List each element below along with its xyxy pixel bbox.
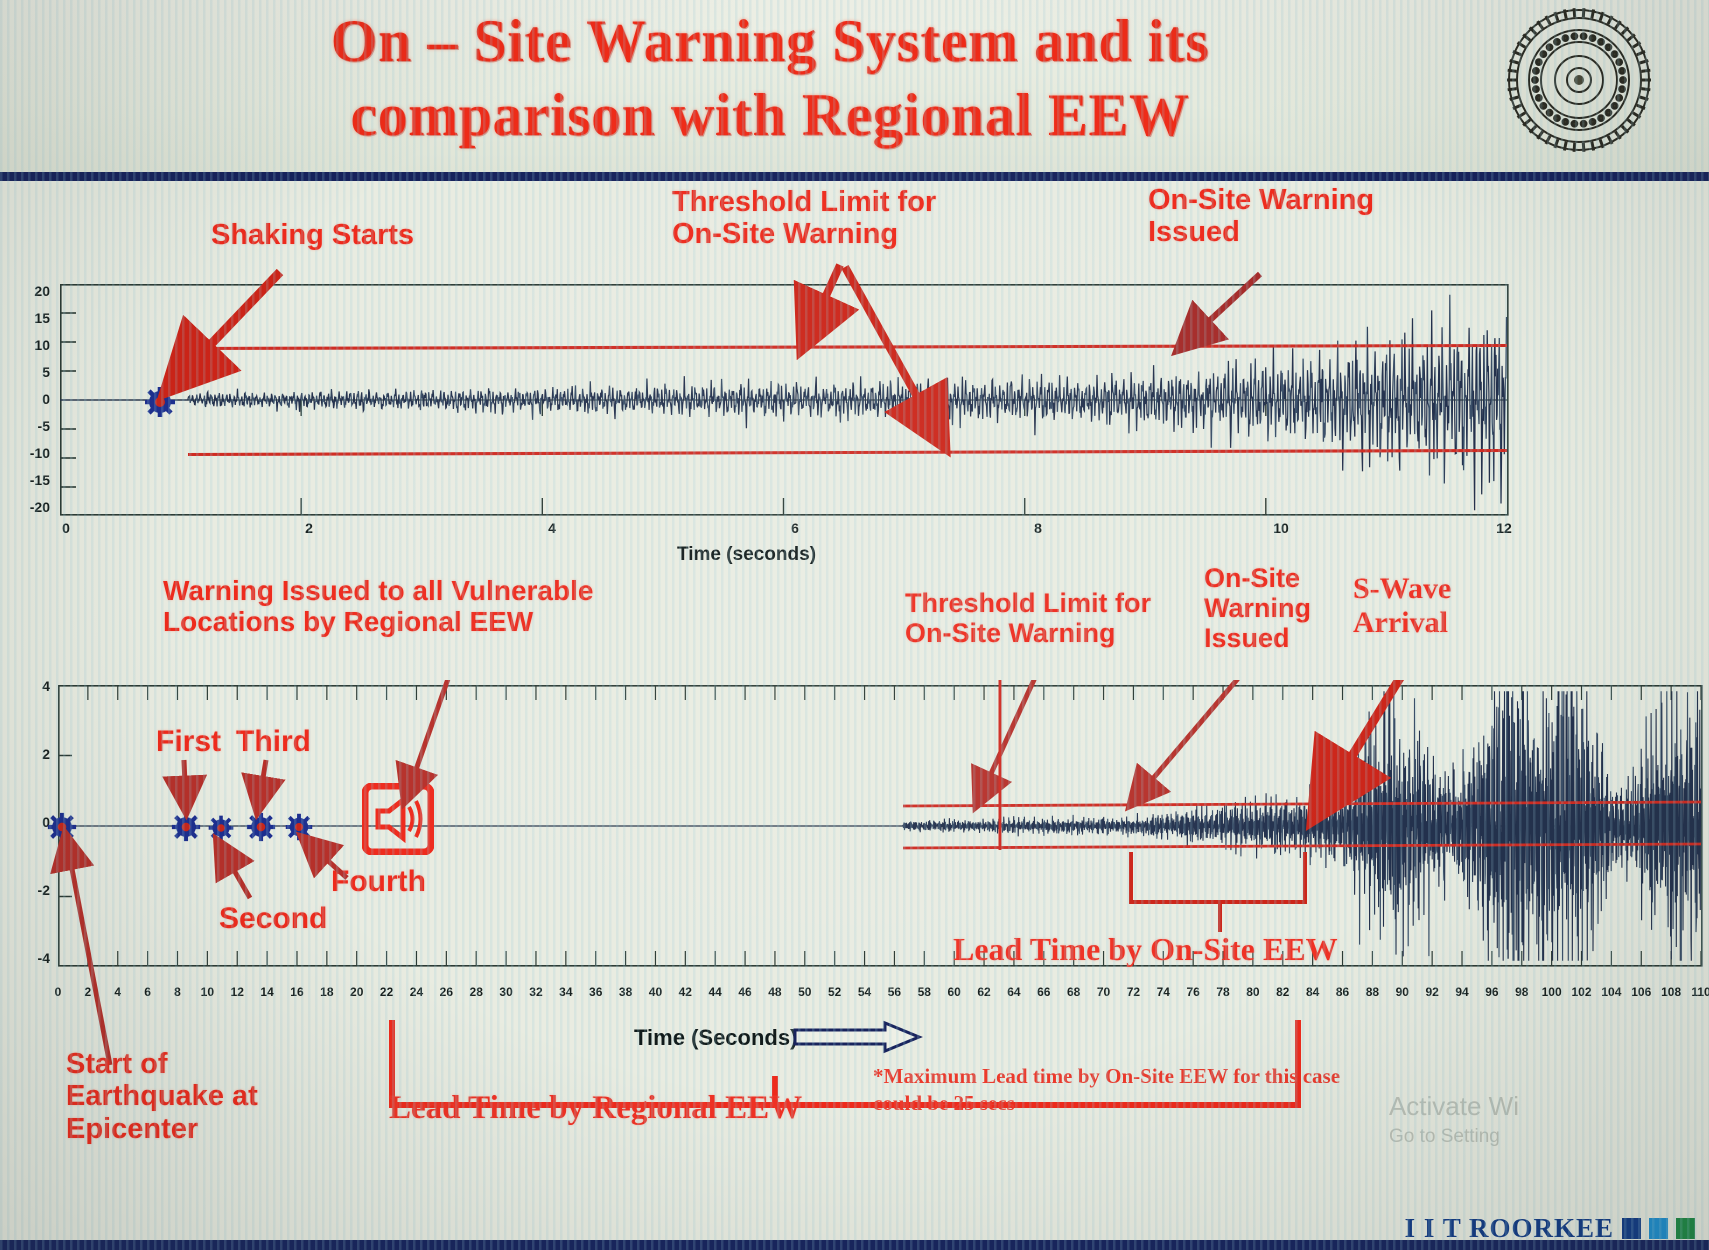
bottom-xtick-80: 80	[1239, 985, 1267, 999]
annotation-bottom-threshold-limit-line1: Threshold Limit for	[905, 588, 1151, 618]
label-start-of-earthquake-line1: Start of	[66, 1048, 258, 1080]
bottom-xtick-36: 36	[582, 985, 610, 999]
bottom-xtick-46: 46	[731, 985, 759, 999]
top-chart-xaxis-title: Time (seconds)	[677, 544, 816, 566]
brand-square-darkblue	[1622, 1218, 1641, 1239]
annotation-regional-warning-line2: Locations by Regional EEW	[163, 606, 593, 637]
annotation-s-wave-arrival-line1: S-Wave	[1353, 572, 1451, 606]
bottom-xtick-102: 102	[1568, 985, 1596, 999]
top-ytick-neg10: -10	[10, 445, 50, 461]
bottom-chart: 4 2 0 -2 -4	[0, 680, 1709, 1110]
bottom-chart-xaxis-title: Time (Seconds)	[634, 1025, 797, 1051]
iit-roorkee-emblem-icon	[1504, 5, 1654, 155]
bottom-xtick-72: 72	[1119, 985, 1147, 999]
bottom-xtick-88: 88	[1358, 985, 1386, 999]
bottom-xtick-30: 30	[492, 985, 520, 999]
bottom-xtick-84: 84	[1299, 985, 1327, 999]
watermark-line1: Activate Wi	[1389, 1089, 1519, 1124]
page-title-line1: On – Site Warning System and its	[150, 4, 1390, 78]
top-xtick-8: 8	[1023, 520, 1053, 536]
top-ytick-neg15: -15	[10, 472, 50, 488]
annotation-onsite-warning-issued: On-Site Warning Issued	[1148, 184, 1374, 249]
bottom-xtick-98: 98	[1508, 985, 1536, 999]
bottom-xtick-60: 60	[940, 985, 968, 999]
bottom-xtick-56: 56	[880, 985, 908, 999]
bottom-chart-xticks: 0246810121416182022242628303234363840424…	[0, 985, 1709, 1015]
annotation-bottom-onsite-warning: On-Site Warning Issued	[1204, 563, 1311, 654]
bottom-xtick-92: 92	[1418, 985, 1446, 999]
bottom-xtick-6: 6	[134, 985, 162, 999]
annotation-s-wave-arrival-line2: Arrival	[1353, 606, 1451, 640]
bottom-xtick-110: 110	[1687, 985, 1709, 999]
annotation-s-wave-arrival: S-Wave Arrival	[1353, 572, 1451, 639]
annotation-threshold-limit-line2: On-Site Warning	[672, 218, 936, 250]
bottom-xtick-82: 82	[1269, 985, 1297, 999]
brand-square-blue	[1649, 1218, 1668, 1239]
bottom-xtick-24: 24	[402, 985, 430, 999]
bottom-xtick-18: 18	[313, 985, 341, 999]
bottom-xtick-76: 76	[1179, 985, 1207, 999]
bottom-xtick-32: 32	[522, 985, 550, 999]
marker-first	[170, 811, 200, 841]
bottom-xtick-38: 38	[612, 985, 640, 999]
page-title-line2: comparison with Regional EEW	[150, 78, 1390, 152]
bottom-xtick-108: 108	[1657, 985, 1685, 999]
bottom-xtick-104: 104	[1597, 985, 1625, 999]
top-ytick-20: 20	[10, 283, 50, 299]
bottom-ytick-4: 4	[10, 678, 50, 694]
top-ytick-5: 5	[10, 364, 50, 380]
bottom-xtick-10: 10	[193, 985, 221, 999]
top-chart-plot	[60, 284, 1509, 516]
annotation-threshold-limit-line1: Threshold Limit for	[672, 186, 936, 218]
top-ytick-10: 10	[10, 337, 50, 353]
bottom-xtick-62: 62	[970, 985, 998, 999]
bottom-xtick-2: 2	[74, 985, 102, 999]
top-xtick-10: 10	[1266, 520, 1296, 536]
annotation-regional-warning: Warning Issued to all Vulnerable Locatio…	[163, 575, 593, 638]
marker-start-of-earthquake	[46, 811, 76, 841]
regional-eew-alert-icon	[362, 783, 434, 855]
bottom-xtick-42: 42	[671, 985, 699, 999]
label-lead-time-onsite: Lead Time by On-Site EEW	[953, 932, 1338, 968]
top-xtick-12: 12	[1489, 520, 1519, 536]
bottom-xtick-28: 28	[462, 985, 490, 999]
bottom-xtick-22: 22	[373, 985, 401, 999]
bottom-xtick-34: 34	[552, 985, 580, 999]
watermark-line2: Go to Setting	[1389, 1124, 1519, 1150]
bottom-xtick-4: 4	[104, 985, 132, 999]
windows-activation-watermark: Activate Wi Go to Setting	[1389, 1089, 1519, 1150]
bottom-xtick-100: 100	[1538, 985, 1566, 999]
bottom-xtick-20: 20	[343, 985, 371, 999]
label-second: Second	[219, 902, 327, 936]
bottom-xtick-64: 64	[1000, 985, 1028, 999]
annotation-bottom-onsite-warning-line1: On-Site	[1204, 563, 1311, 593]
marker-third	[245, 811, 275, 841]
bottom-xtick-70: 70	[1090, 985, 1118, 999]
bottom-xtick-58: 58	[910, 985, 938, 999]
bottom-xtick-26: 26	[432, 985, 460, 999]
bottom-ytick-0: 0	[10, 814, 50, 830]
top-xtick-6: 6	[780, 520, 810, 536]
annotation-bottom-threshold-limit: Threshold Limit for On-Site Warning	[905, 588, 1151, 648]
top-chart: Shaking Starts Threshold Limit for On-Si…	[0, 172, 1709, 582]
bottom-xtick-106: 106	[1627, 985, 1655, 999]
label-lead-time-regional: Lead Time by Regional EEW	[389, 1090, 802, 1127]
bottom-xtick-0: 0	[44, 985, 72, 999]
annotation-onsite-warning-issued-line1: On-Site Warning	[1148, 184, 1374, 216]
top-ytick-15: 15	[10, 310, 50, 326]
bottom-xtick-86: 86	[1329, 985, 1357, 999]
top-ytick-neg20: -20	[10, 499, 50, 515]
time-direction-arrow-icon	[793, 1020, 923, 1054]
top-threshold-lower	[188, 451, 1507, 455]
slide-canvas: On – Site Warning System and its compari…	[0, 0, 1709, 1250]
bottom-xtick-16: 16	[283, 985, 311, 999]
marker-shaking-starts	[143, 385, 173, 415]
bottom-xtick-94: 94	[1448, 985, 1476, 999]
bottom-xtick-8: 8	[163, 985, 191, 999]
bottom-xtick-50: 50	[791, 985, 819, 999]
bottom-xtick-68: 68	[1060, 985, 1088, 999]
brand-square-green	[1676, 1218, 1695, 1239]
label-first: First	[156, 725, 221, 759]
annotation-bottom-threshold-limit-line2: On-Site Warning	[905, 618, 1151, 648]
bottom-xtick-44: 44	[701, 985, 729, 999]
marker-second	[207, 814, 237, 844]
annotation-bottom-onsite-warning-line2: Warning	[1204, 593, 1311, 623]
page-title: On – Site Warning System and its compari…	[150, 4, 1390, 152]
top-ytick-0: 0	[10, 391, 50, 407]
marker-fourth	[284, 812, 314, 842]
top-threshold-upper	[188, 346, 1507, 349]
annotation-threshold-limit: Threshold Limit for On-Site Warning	[672, 186, 936, 251]
bottom-xtick-14: 14	[253, 985, 281, 999]
bottom-xtick-66: 66	[1030, 985, 1058, 999]
bottom-xtick-90: 90	[1388, 985, 1416, 999]
label-fourth: Fourth	[331, 865, 426, 899]
annotation-shaking-starts: Shaking Starts	[211, 219, 414, 251]
label-start-of-earthquake-line3: Epicenter	[66, 1113, 258, 1145]
annotation-onsite-warning-issued-line2: Issued	[1148, 216, 1374, 248]
top-ytick-neg5: -5	[10, 418, 50, 434]
bottom-xtick-40: 40	[641, 985, 669, 999]
top-xtick-0: 0	[51, 520, 81, 536]
bottom-xtick-78: 78	[1209, 985, 1237, 999]
bottom-xtick-54: 54	[851, 985, 879, 999]
footnote-line1: *Maximum Lead time by On-Site EEW for th…	[873, 1063, 1593, 1090]
top-xtick-2: 2	[294, 520, 324, 536]
bottom-xtick-48: 48	[761, 985, 789, 999]
bottom-xtick-12: 12	[223, 985, 251, 999]
label-third: Third	[236, 725, 311, 759]
bottom-ytick-neg4: -4	[10, 950, 50, 966]
label-start-of-earthquake-line2: Earthquake at	[66, 1080, 258, 1112]
annotation-bottom-onsite-warning-line3: Issued	[1204, 623, 1311, 653]
bottom-ytick-2: 2	[10, 746, 50, 762]
bottom-ytick-neg2: -2	[10, 882, 50, 898]
top-xtick-4: 4	[537, 520, 567, 536]
bottom-xtick-74: 74	[1149, 985, 1177, 999]
footer-rule	[0, 1240, 1709, 1250]
slide-header: On – Site Warning System and its compari…	[0, 0, 1709, 181]
label-start-of-earthquake: Start of Earthquake at Epicenter	[66, 1048, 258, 1145]
annotation-regional-warning-line1: Warning Issued to all Vulnerable	[163, 575, 593, 606]
bottom-xtick-52: 52	[821, 985, 849, 999]
bottom-xtick-96: 96	[1478, 985, 1506, 999]
